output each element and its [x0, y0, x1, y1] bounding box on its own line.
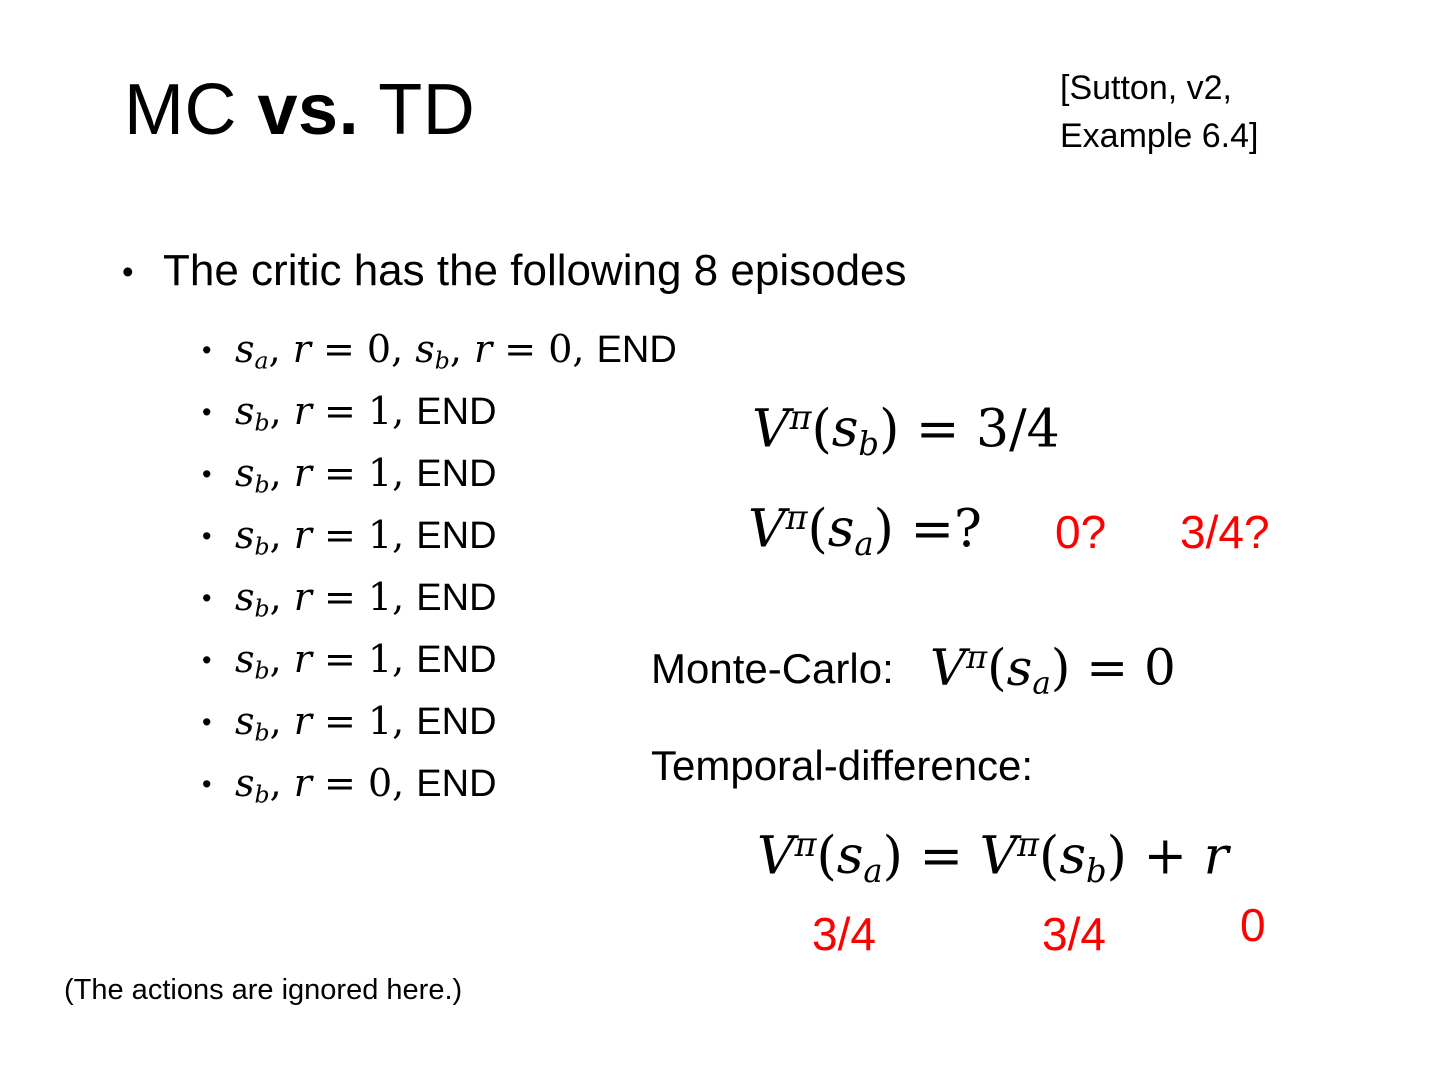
paren-close: ) [1051, 639, 1071, 697]
episode-equals: = [311, 327, 367, 371]
bullet-dot-icon: • [202, 505, 235, 567]
list-item: •sb, r = 1, END [202, 442, 677, 504]
episode-reward-value: 1 [368, 389, 392, 433]
episode-equals: = [492, 327, 548, 371]
citation-reference: [Sutton, v2, Example 6.4] [1060, 64, 1360, 161]
episode-reward-value: 0 [368, 761, 392, 805]
episode-equals: = [312, 575, 368, 619]
episode-reward-symbol: r [294, 451, 312, 495]
equals-sign: = [899, 399, 976, 459]
episode-state-symbol: sb [235, 513, 270, 557]
policy-superscript: π [966, 638, 987, 676]
list-item: •sb, r = 1, END [202, 566, 677, 628]
episode-reward-symbol: r [474, 327, 492, 371]
reward-symbol: r [1204, 826, 1229, 886]
state-symbol: sb [1059, 826, 1106, 886]
episode-equals: = [312, 637, 368, 681]
episode-reward-value: 0 [548, 327, 572, 371]
policy-superscript: π [790, 398, 812, 437]
episode-reward-value: 1 [368, 699, 392, 743]
episode-reward-symbol: r [294, 761, 312, 805]
episode-state-symbol: sb [235, 575, 270, 619]
bullet-dot-icon: • [122, 255, 163, 288]
paren-open: ( [811, 399, 831, 459]
list-item: •sa, r = 0, sb, r = 0, END [202, 318, 677, 380]
answer-option-three-quarters: 3/4? [1180, 505, 1270, 559]
annotation-value-sa: 3/4 [812, 907, 876, 961]
list-item: •sb, r = 1, END [202, 504, 677, 566]
value-result: 3/4 [976, 399, 1060, 459]
episode-reward-symbol: r [294, 575, 312, 619]
episode-reward-symbol: r [294, 389, 312, 433]
title-part-vs: vs. [257, 70, 359, 150]
citation-line-1: [Sutton, v2, [1060, 64, 1360, 112]
episode-separator: , [392, 513, 416, 557]
episode-separator: , [270, 575, 294, 619]
episode-end-label: END [416, 639, 496, 681]
slide-canvas: MC vs. TD [Sutton, v2, Example 6.4] •The… [0, 0, 1442, 1082]
episode-state-symbol: sb [235, 451, 270, 495]
episode-equals: = [312, 451, 368, 495]
episode-separator: , [270, 637, 294, 681]
episode-separator: , [392, 451, 416, 495]
monte-carlo-label: Monte-Carlo: [651, 645, 894, 693]
equals-sign: = [903, 826, 980, 886]
policy-superscript: π [795, 825, 817, 864]
question-mark: ? [954, 499, 982, 559]
main-bullet-item: •The critic has the following 8 episodes [122, 249, 907, 293]
episode-separator: , [450, 327, 474, 371]
state-symbol: sa [837, 826, 883, 886]
value-result: 0 [1144, 639, 1176, 697]
episode-separator: , [392, 637, 416, 681]
bullet-dot-icon: • [202, 381, 235, 443]
equation-monte-carlo: Vπ(sa) = 0 [930, 638, 1176, 701]
episode-separator: , [270, 699, 294, 743]
equation-value-sb: Vπ(sb) = 3/4 [752, 398, 1060, 463]
episode-state-symbol: sb [235, 761, 270, 805]
paren-close: ) [874, 499, 894, 559]
value-function-symbol: V [930, 639, 966, 697]
bullet-dot-icon: • [202, 629, 235, 691]
episode-reward-value: 1 [368, 513, 392, 557]
episode-reward-symbol: r [293, 327, 311, 371]
list-item: •sb, r = 0, END [202, 752, 677, 814]
plus-sign: + [1127, 826, 1204, 886]
footnote: (The actions are ignored here.) [64, 974, 462, 1007]
episode-separator: , [269, 327, 293, 371]
episode-separator: , [392, 575, 416, 619]
episode-end-label: END [416, 391, 496, 433]
episode-end-label: END [416, 701, 496, 743]
episode-reward-symbol: r [294, 699, 312, 743]
paren-open: ( [987, 639, 1007, 697]
episode-equals: = [312, 761, 368, 805]
equals-sign: = [894, 499, 954, 559]
paren-close: ) [1107, 826, 1127, 886]
episode-reward-value: 0 [367, 327, 391, 371]
citation-line-2: Example 6.4] [1060, 112, 1360, 160]
bullet-dot-icon: • [202, 443, 235, 505]
paren-open: ( [1039, 826, 1059, 886]
bullet-dot-icon: • [202, 319, 235, 381]
episode-state-symbol: sb [415, 327, 450, 371]
bullet-dot-icon: • [202, 567, 235, 629]
bullet-dot-icon: • [202, 691, 235, 753]
title-part-mc: MC [124, 70, 257, 150]
equation-value-sa-question: Vπ(sa) =? [748, 498, 982, 563]
paren-close: ) [883, 826, 903, 886]
episode-separator: , [572, 327, 596, 371]
episode-state-symbol: sb [235, 699, 270, 743]
policy-superscript: π [1017, 825, 1039, 864]
episode-end-label: END [416, 515, 496, 557]
page-title: MC vs. TD [124, 74, 475, 146]
episode-reward-symbol: r [294, 637, 312, 681]
value-function-symbol: V [752, 399, 790, 459]
episode-state-symbol: sb [235, 637, 270, 681]
episode-separator: , [270, 513, 294, 557]
episode-separator: , [270, 389, 294, 433]
annotation-value-reward: 0 [1240, 898, 1266, 952]
state-symbol: sa [1007, 639, 1051, 697]
episode-end-label: END [416, 763, 496, 805]
episode-separator: , [391, 327, 415, 371]
list-item: •sb, r = 1, END [202, 690, 677, 752]
annotation-value-sb: 3/4 [1042, 907, 1106, 961]
list-item: •sb, r = 1, END [202, 628, 677, 690]
episode-reward-symbol: r [294, 513, 312, 557]
state-symbol: sa [828, 499, 874, 559]
answer-option-zero: 0? [1055, 505, 1106, 559]
paren-open: ( [816, 826, 836, 886]
episode-end-label: END [416, 577, 496, 619]
episode-separator: , [270, 451, 294, 495]
temporal-difference-label: Temporal-difference: [651, 742, 1033, 790]
title-part-td: TD [359, 70, 475, 150]
episode-reward-value: 1 [368, 637, 392, 681]
paren-close: ) [879, 399, 899, 459]
bullet-dot-icon: • [202, 753, 235, 815]
episode-reward-value: 1 [368, 575, 392, 619]
list-item: •sb, r = 1, END [202, 380, 677, 442]
episode-end-label: END [416, 453, 496, 495]
equation-temporal-difference: Vπ(sa) = Vπ(sb) + r [757, 825, 1228, 890]
episode-equals: = [312, 699, 368, 743]
episode-state-symbol: sb [235, 389, 270, 433]
value-function-symbol: V [748, 499, 786, 559]
paren-open: ( [807, 499, 827, 559]
episode-separator: , [392, 699, 416, 743]
value-function-symbol: V [757, 826, 795, 886]
state-symbol: sb [832, 399, 879, 459]
episode-separator: , [392, 761, 416, 805]
episode-separator: , [392, 389, 416, 433]
episode-separator: , [270, 761, 294, 805]
episode-state-symbol: sa [235, 327, 269, 371]
value-function-symbol: V [980, 826, 1018, 886]
equals-sign: = [1070, 639, 1144, 697]
main-bullet-label: The critic has the following 8 episodes [163, 246, 907, 295]
episode-reward-value: 1 [368, 451, 392, 495]
episode-equals: = [312, 389, 368, 433]
episode-list: •sa, r = 0, sb, r = 0, END •sb, r = 1, E… [202, 318, 677, 814]
episode-equals: = [312, 513, 368, 557]
episode-end-label: END [597, 329, 677, 371]
policy-superscript: π [786, 498, 808, 537]
